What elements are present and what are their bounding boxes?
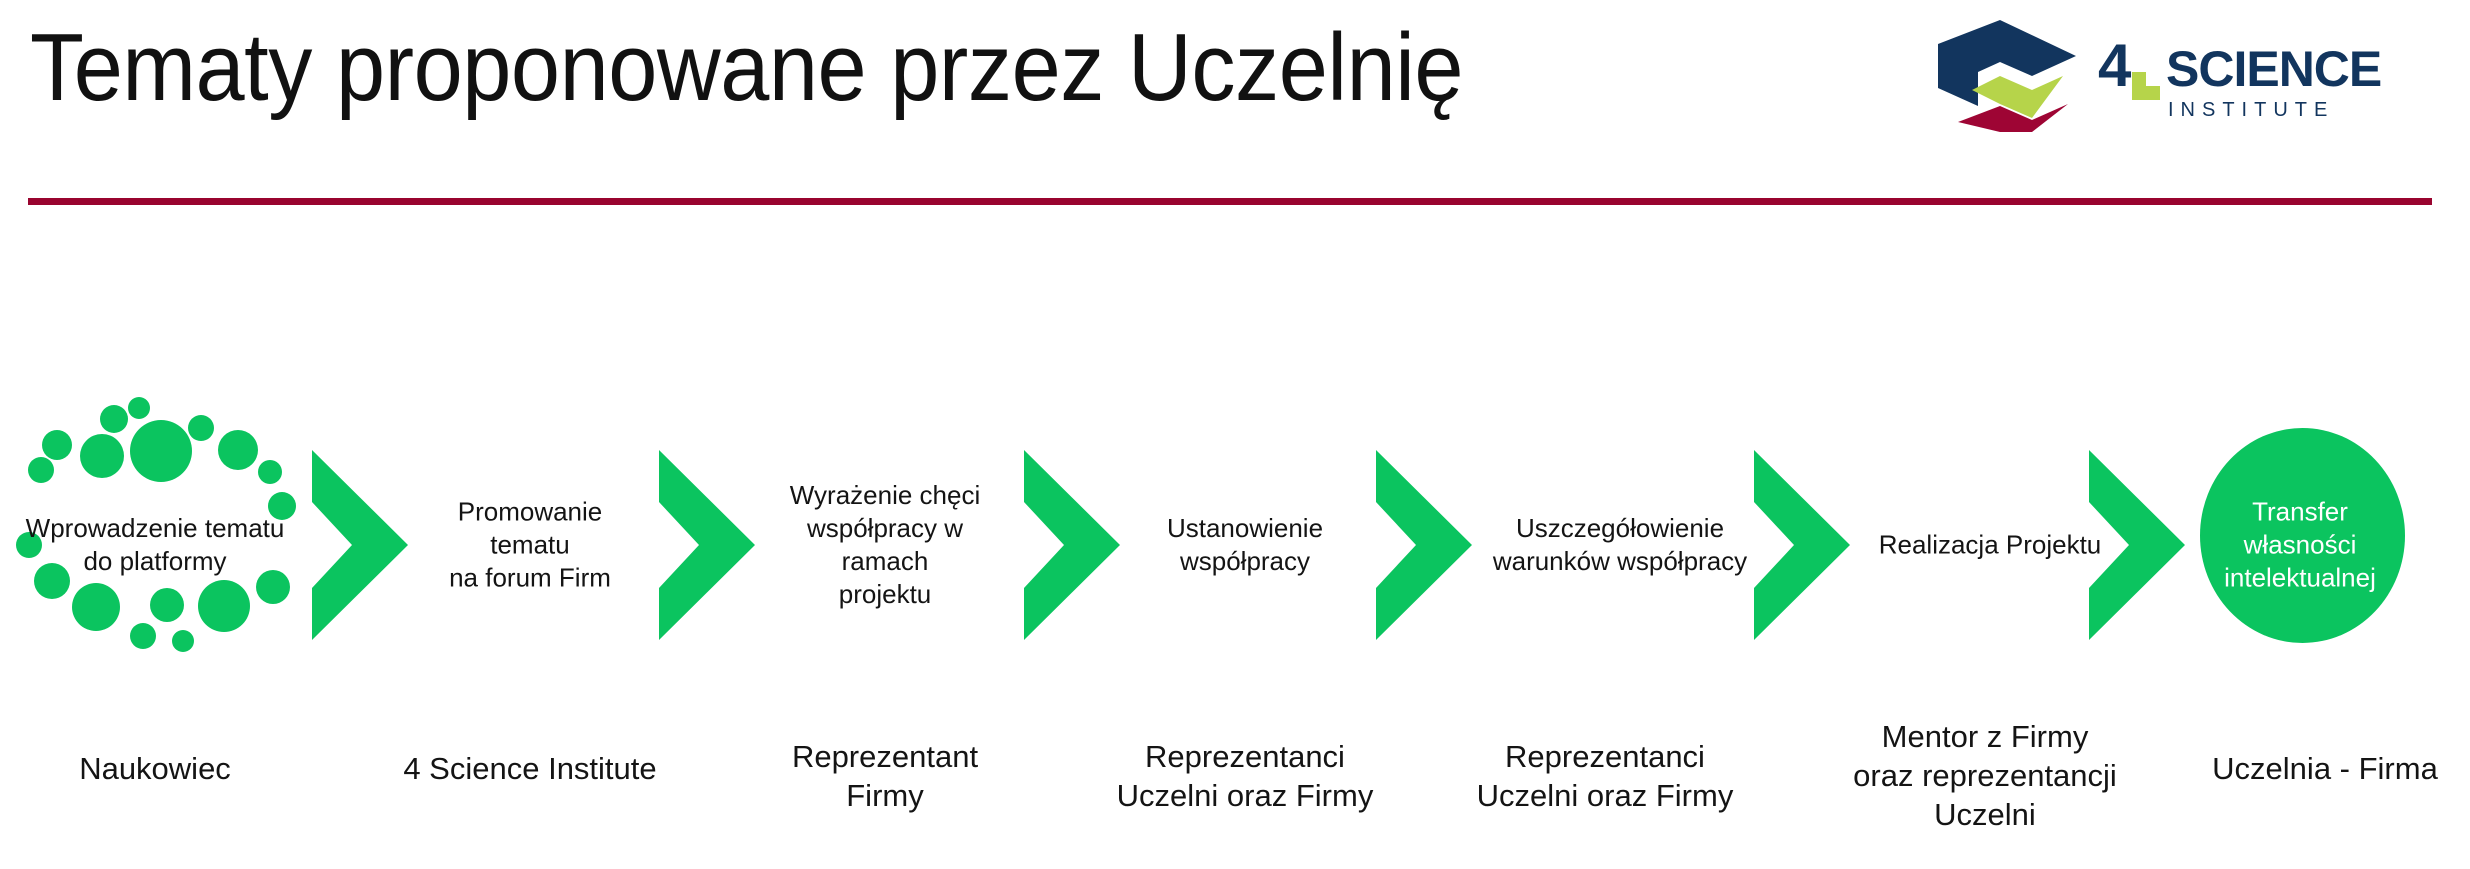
chevron-right-icon [308, 450, 408, 645]
chevron-right-icon [1372, 450, 1472, 645]
flow-step-5[interactable]: Uszczegółowieniewarunków współpracy [1480, 400, 1760, 690]
flow-step-7-label: Transferwłasnościintelektualnej [2190, 496, 2410, 595]
chevron-right-icon [655, 450, 755, 645]
chevron-right-icon [2085, 450, 2185, 645]
role-label-4: ReprezentanciUczelni oraz Firmy [1105, 737, 1385, 815]
role-label-3: ReprezentantFirmy [755, 737, 1015, 815]
logo-wordmark: 4 SCIENCE INSTITUTE [2098, 30, 2448, 120]
role-label-7: Uczelnia - Firma [2180, 749, 2470, 788]
flow-step-7[interactable]: Transferwłasnościintelektualnej [2190, 400, 2410, 690]
role-label-6: Mentor z Firmyoraz reprezentancjiUczelni [1825, 717, 2145, 834]
chevron-right-icon [1750, 450, 1850, 645]
flow-step-3[interactable]: Wyrażenie chęciwspółpracy w ramachprojek… [760, 400, 1010, 690]
svg-text:SCIENCE: SCIENCE [2166, 41, 2381, 97]
svg-text:INSTITUTE: INSTITUTE [2168, 99, 2334, 121]
role-label-2: 4 Science Institute [380, 749, 680, 788]
logo-hexagon-stack-icon [1928, 14, 2078, 132]
page-title: Tematy proponowane przez Uczelnię [30, 8, 1732, 128]
role-labels: Naukowiec 4 Science Institute Reprezenta… [0, 735, 2470, 865]
flow-step-1-label: Wprowadzenie tematudo platformy [0, 512, 310, 578]
process-flow: Wprowadzenie tematudo platformy Promowan… [0, 400, 2470, 730]
flow-step-5-label: Uszczegółowieniewarunków współpracy [1480, 512, 1760, 578]
flow-step-2-label: Promowanie tematuna forum Firm [410, 496, 650, 595]
flow-step-2[interactable]: Promowanie tematuna forum Firm [410, 400, 650, 690]
slide-canvas: Tematy proponowane przez Uczelnię 4 SCIE… [0, 0, 2470, 869]
flow-step-4-label: Ustanowieniewspółpracy [1125, 512, 1365, 578]
role-label-1: Naukowiec [0, 749, 310, 788]
chevron-right-icon [1020, 450, 1120, 645]
title-divider [28, 198, 2432, 205]
flow-step-4[interactable]: Ustanowieniewspółpracy [1125, 400, 1365, 690]
flow-step-3-label: Wyrażenie chęciwspółpracy w ramachprojek… [760, 479, 1010, 611]
flow-step-1[interactable]: Wprowadzenie tematudo platformy [0, 400, 310, 690]
role-label-5: ReprezentanciUczelni oraz Firmy [1465, 737, 1745, 815]
brand-logo: 4 SCIENCE INSTITUTE [1928, 14, 2448, 132]
svg-text:4: 4 [2098, 32, 2132, 99]
